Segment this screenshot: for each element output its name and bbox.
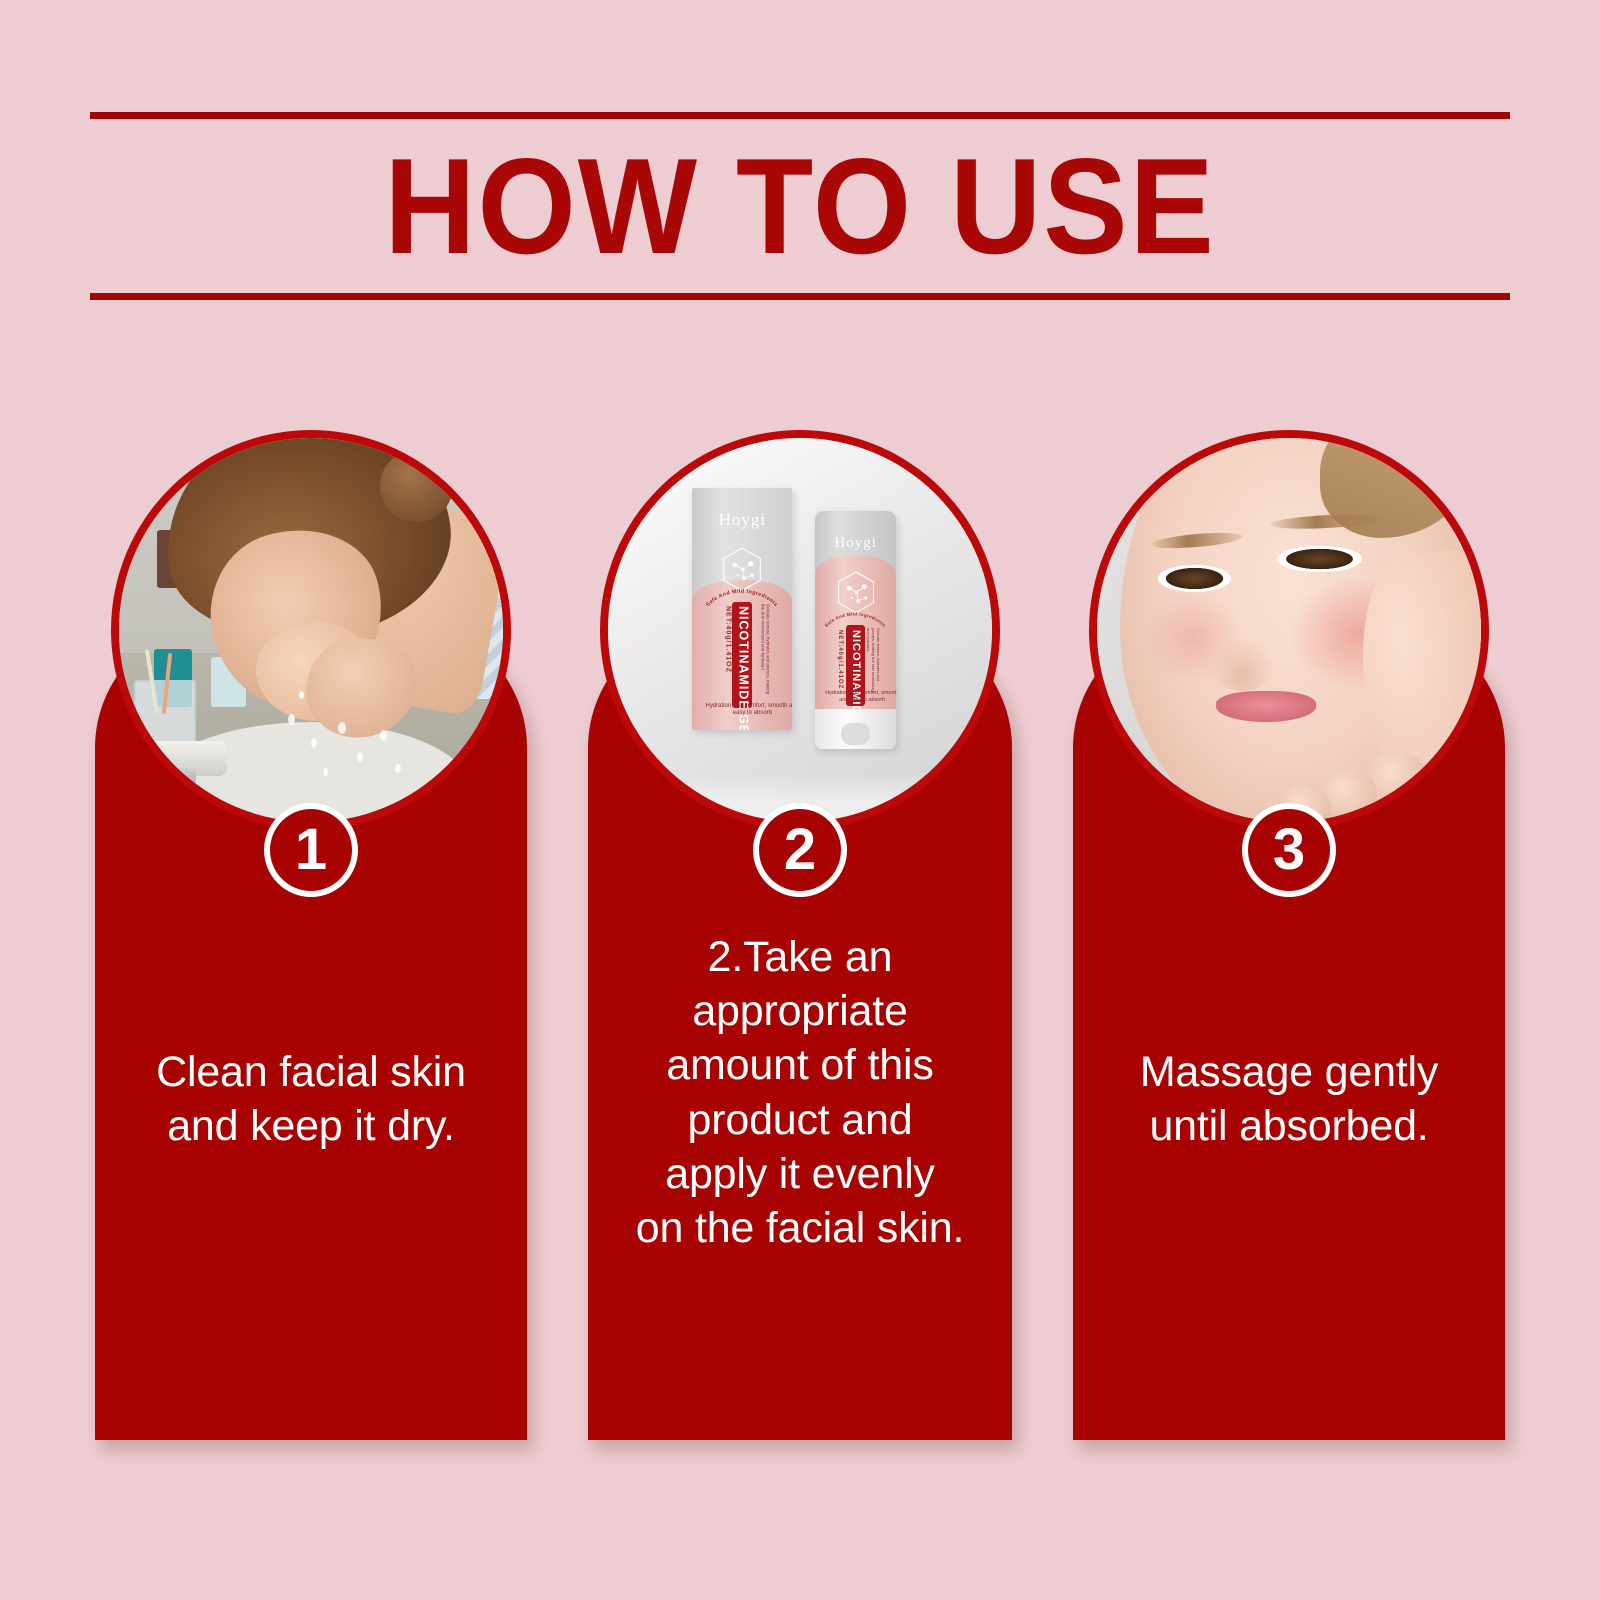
step-2-photo: Hoygi [608,438,992,822]
step-2-caption: 2.Take an appropriate amount of this pro… [592,930,1008,1255]
product-tagline-box: Hydration and comfort, smooth and easy t… [692,703,792,718]
page-title: HOW TO USE [140,112,1461,300]
step-3-number-badge: 3 [1242,803,1336,897]
step-3-photo [1097,438,1481,822]
product-side-claim-tube: Delicate texture, hydrates and plumps, m… [867,628,881,695]
product-brand-tube: Hoygi [815,535,896,552]
step-1-photo-frame [111,430,511,830]
step-2-photo-frame: Hoygi [600,430,1000,830]
step-card-2: Hoygi [588,430,1012,1440]
product-tube: Hoygi [815,511,896,749]
product-side-claim-box: Delicate texture, hydrates and plumps, m… [754,604,770,696]
step-1-caption: Clean facial skin and keep it dry. [105,1045,517,1153]
product-tube-cap [815,709,896,749]
header: HOW TO USE [90,112,1510,300]
step-3-caption: Massage gently until absorbed. [1083,1045,1495,1153]
product-box: Hoygi [692,488,792,730]
step-2-number-badge: 2 [753,803,847,897]
step-1-photo [119,438,503,822]
product-tagline-tube: Hydration and comfort, smooth and easy t… [815,690,896,704]
step-3-photo-frame [1089,430,1489,830]
product-net-weight-box: NET:40g/1.41OZ [724,606,731,673]
step-card-3: 3 Massage gently until absorbed. [1073,430,1505,1440]
product-brand-box: Hoygi [692,510,792,530]
step-card-1: 1 Clean facial skin and keep it dry. [95,430,527,1440]
product-name-box: NICOTINAMIDE GEL [736,606,750,703]
title-rule-bottom [90,293,1510,300]
step-1-number-badge: 1 [264,803,358,897]
product-net-weight-tube: NET:40g/1.41OZ [837,630,843,689]
